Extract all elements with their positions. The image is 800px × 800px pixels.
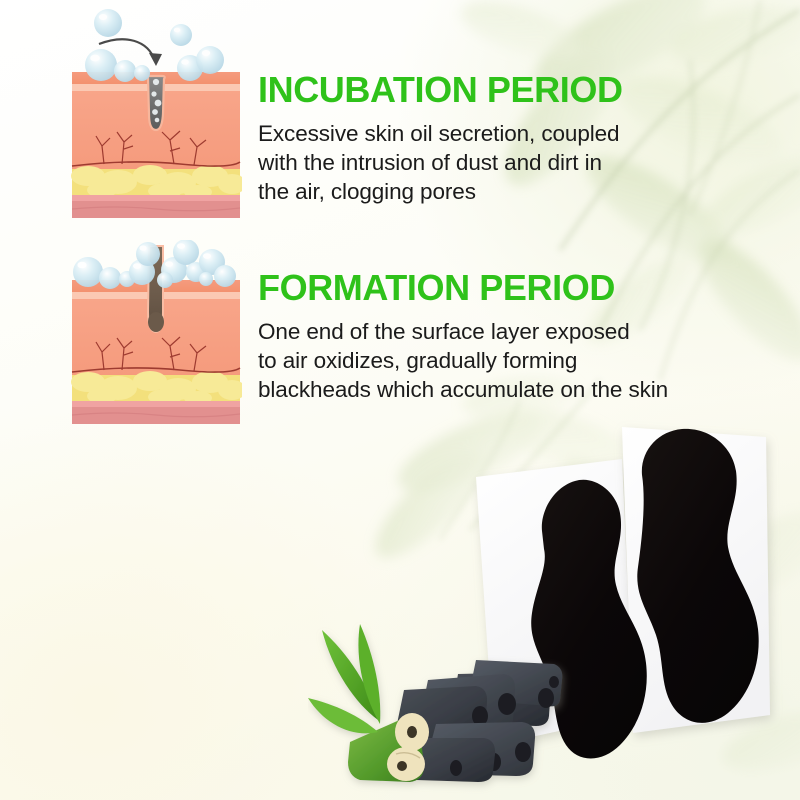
bamboo-leaves — [308, 624, 380, 733]
ingredient-bamboo-charcoal — [308, 612, 578, 800]
formation-body-line-1: One end of the surface layer exposed — [258, 317, 698, 346]
formation-body-line-2: to air oxidizes, gradually forming — [258, 346, 698, 375]
formation-body: One end of the surface layer exposed to … — [258, 317, 698, 405]
pore-with-dirt — [147, 76, 164, 130]
section-incubation-text: INCUBATION PERIOD Excessive skin oil sec… — [258, 72, 678, 206]
incubation-body-line-2: with the intrusion of dust and dirt in — [258, 148, 678, 177]
infographic-canvas: INCUBATION PERIOD Excessive skin oil sec… — [0, 0, 800, 800]
section-formation-text: FORMATION PERIOD One end of the surface … — [258, 270, 698, 404]
incubation-body-line-3: the air, clogging pores — [258, 177, 678, 206]
incubation-heading: INCUBATION PERIOD — [258, 72, 678, 109]
incubation-body-line-1: Excessive skin oil secretion, coupled — [258, 119, 678, 148]
formation-heading: FORMATION PERIOD — [258, 270, 698, 307]
formation-body-line-3: blackheads which accumulate on the skin — [258, 375, 698, 404]
incubation-body: Excessive skin oil secretion, coupled wi… — [258, 119, 678, 207]
bubble-group-incubation — [85, 9, 224, 82]
illustration-incubation-skin-cross-section — [70, 6, 242, 220]
illustration-formation-skin-cross-section — [70, 240, 242, 426]
